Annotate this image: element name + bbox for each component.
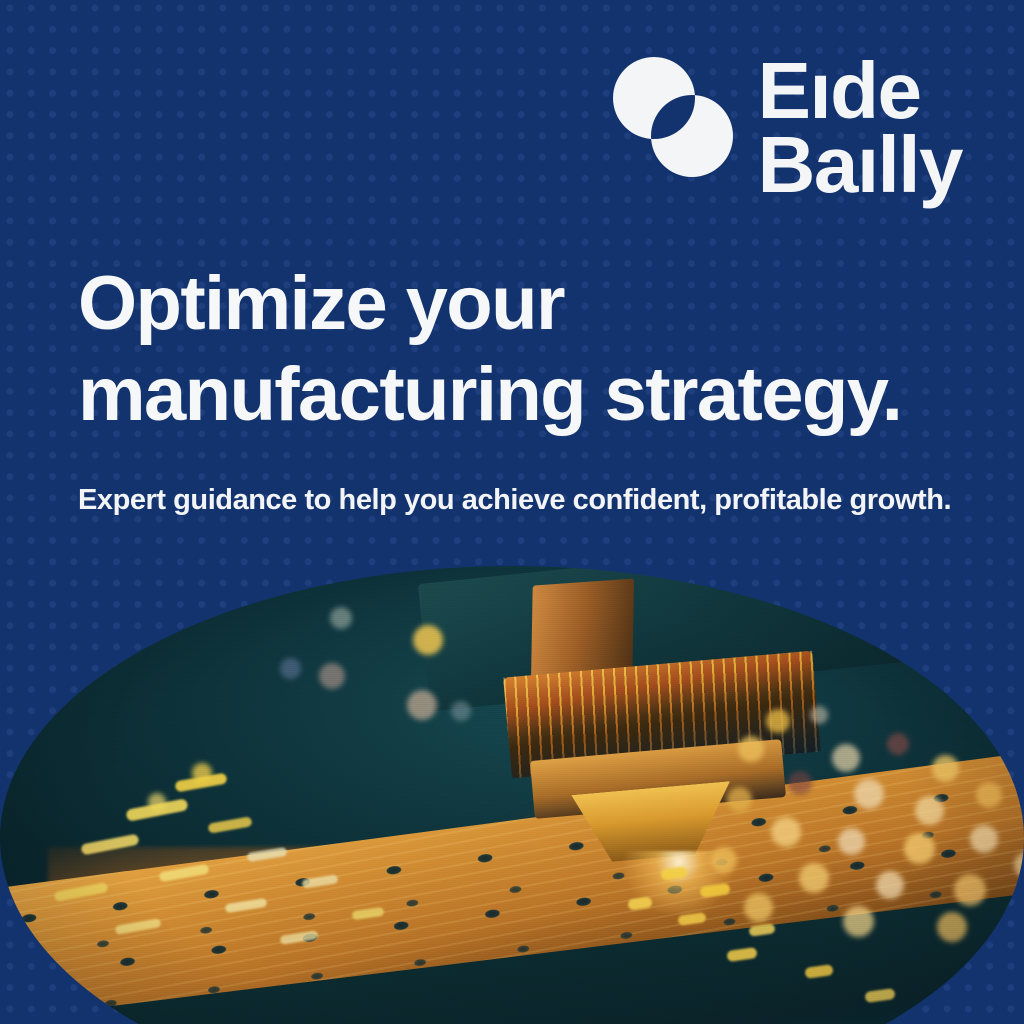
ad-canvas: Eıde Baılly Optimize your manufacturing … [0,0,1024,1024]
logo-wordmark: Eıde Baılly [758,52,962,203]
headline: Optimize your manufacturing strategy. [78,258,978,440]
logo-wordmark-line-2: Baılly [758,128,962,202]
headline-line-2: manufacturing strategy. [78,349,978,440]
subheadline: Expert guidance to help you achieve conf… [78,482,978,520]
logo-wordmark-line-1: Eıde [758,54,962,128]
eide-bailly-logo[interactable]: Eıde Baılly [612,52,962,203]
headline-line-1: Optimize your [78,258,978,349]
copy-block: Optimize your manufacturing strategy. Ex… [78,258,978,520]
two-overlapping-circles-icon [612,56,734,178]
